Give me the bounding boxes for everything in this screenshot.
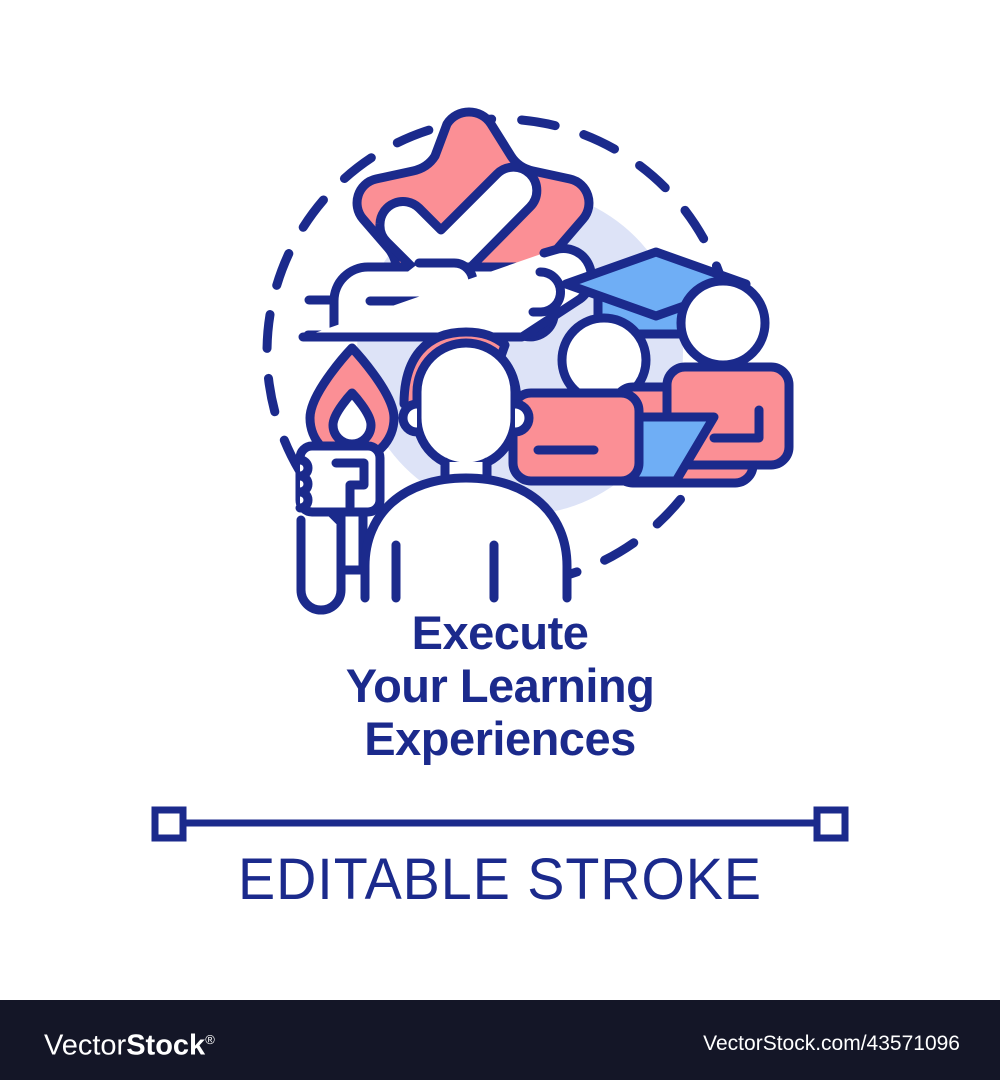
torch-lower-arm <box>301 520 341 610</box>
vectorstock-logo: VectorStock® <box>44 1024 215 1062</box>
title-line-1: Execute <box>0 606 1000 659</box>
brand-part-two: Stock <box>126 1030 205 1062</box>
torch-grip-knuckles <box>300 460 308 508</box>
title-line-3: Experiences <box>0 712 1000 765</box>
artboard: Execute Your Learning Experiences EDITAB… <box>0 0 1000 1000</box>
registered-mark-icon: ® <box>205 1032 215 1047</box>
brand-part-one: Vector <box>44 1030 126 1062</box>
student-head-right <box>681 281 765 365</box>
concept-illustration <box>0 0 1000 620</box>
stroke-bar-handle-right <box>817 810 845 838</box>
stroke-bar-handle-left <box>155 810 183 838</box>
editable-stroke-bar <box>0 805 1000 845</box>
editable-stroke-label: EDITABLE STROKE <box>20 849 980 911</box>
person-ear-right <box>515 404 529 432</box>
footer-bar: VectorStock® VectorStock.com/43571096 <box>0 1000 1000 1080</box>
title-line-2: Your Learning <box>0 659 1000 712</box>
footer-url: VectorStock.com/43571096 <box>703 1032 960 1056</box>
page-title: Execute Your Learning Experiences <box>0 606 1000 765</box>
person-head <box>417 343 515 467</box>
person-ear-left <box>403 404 417 432</box>
desk-left-body <box>513 393 639 481</box>
